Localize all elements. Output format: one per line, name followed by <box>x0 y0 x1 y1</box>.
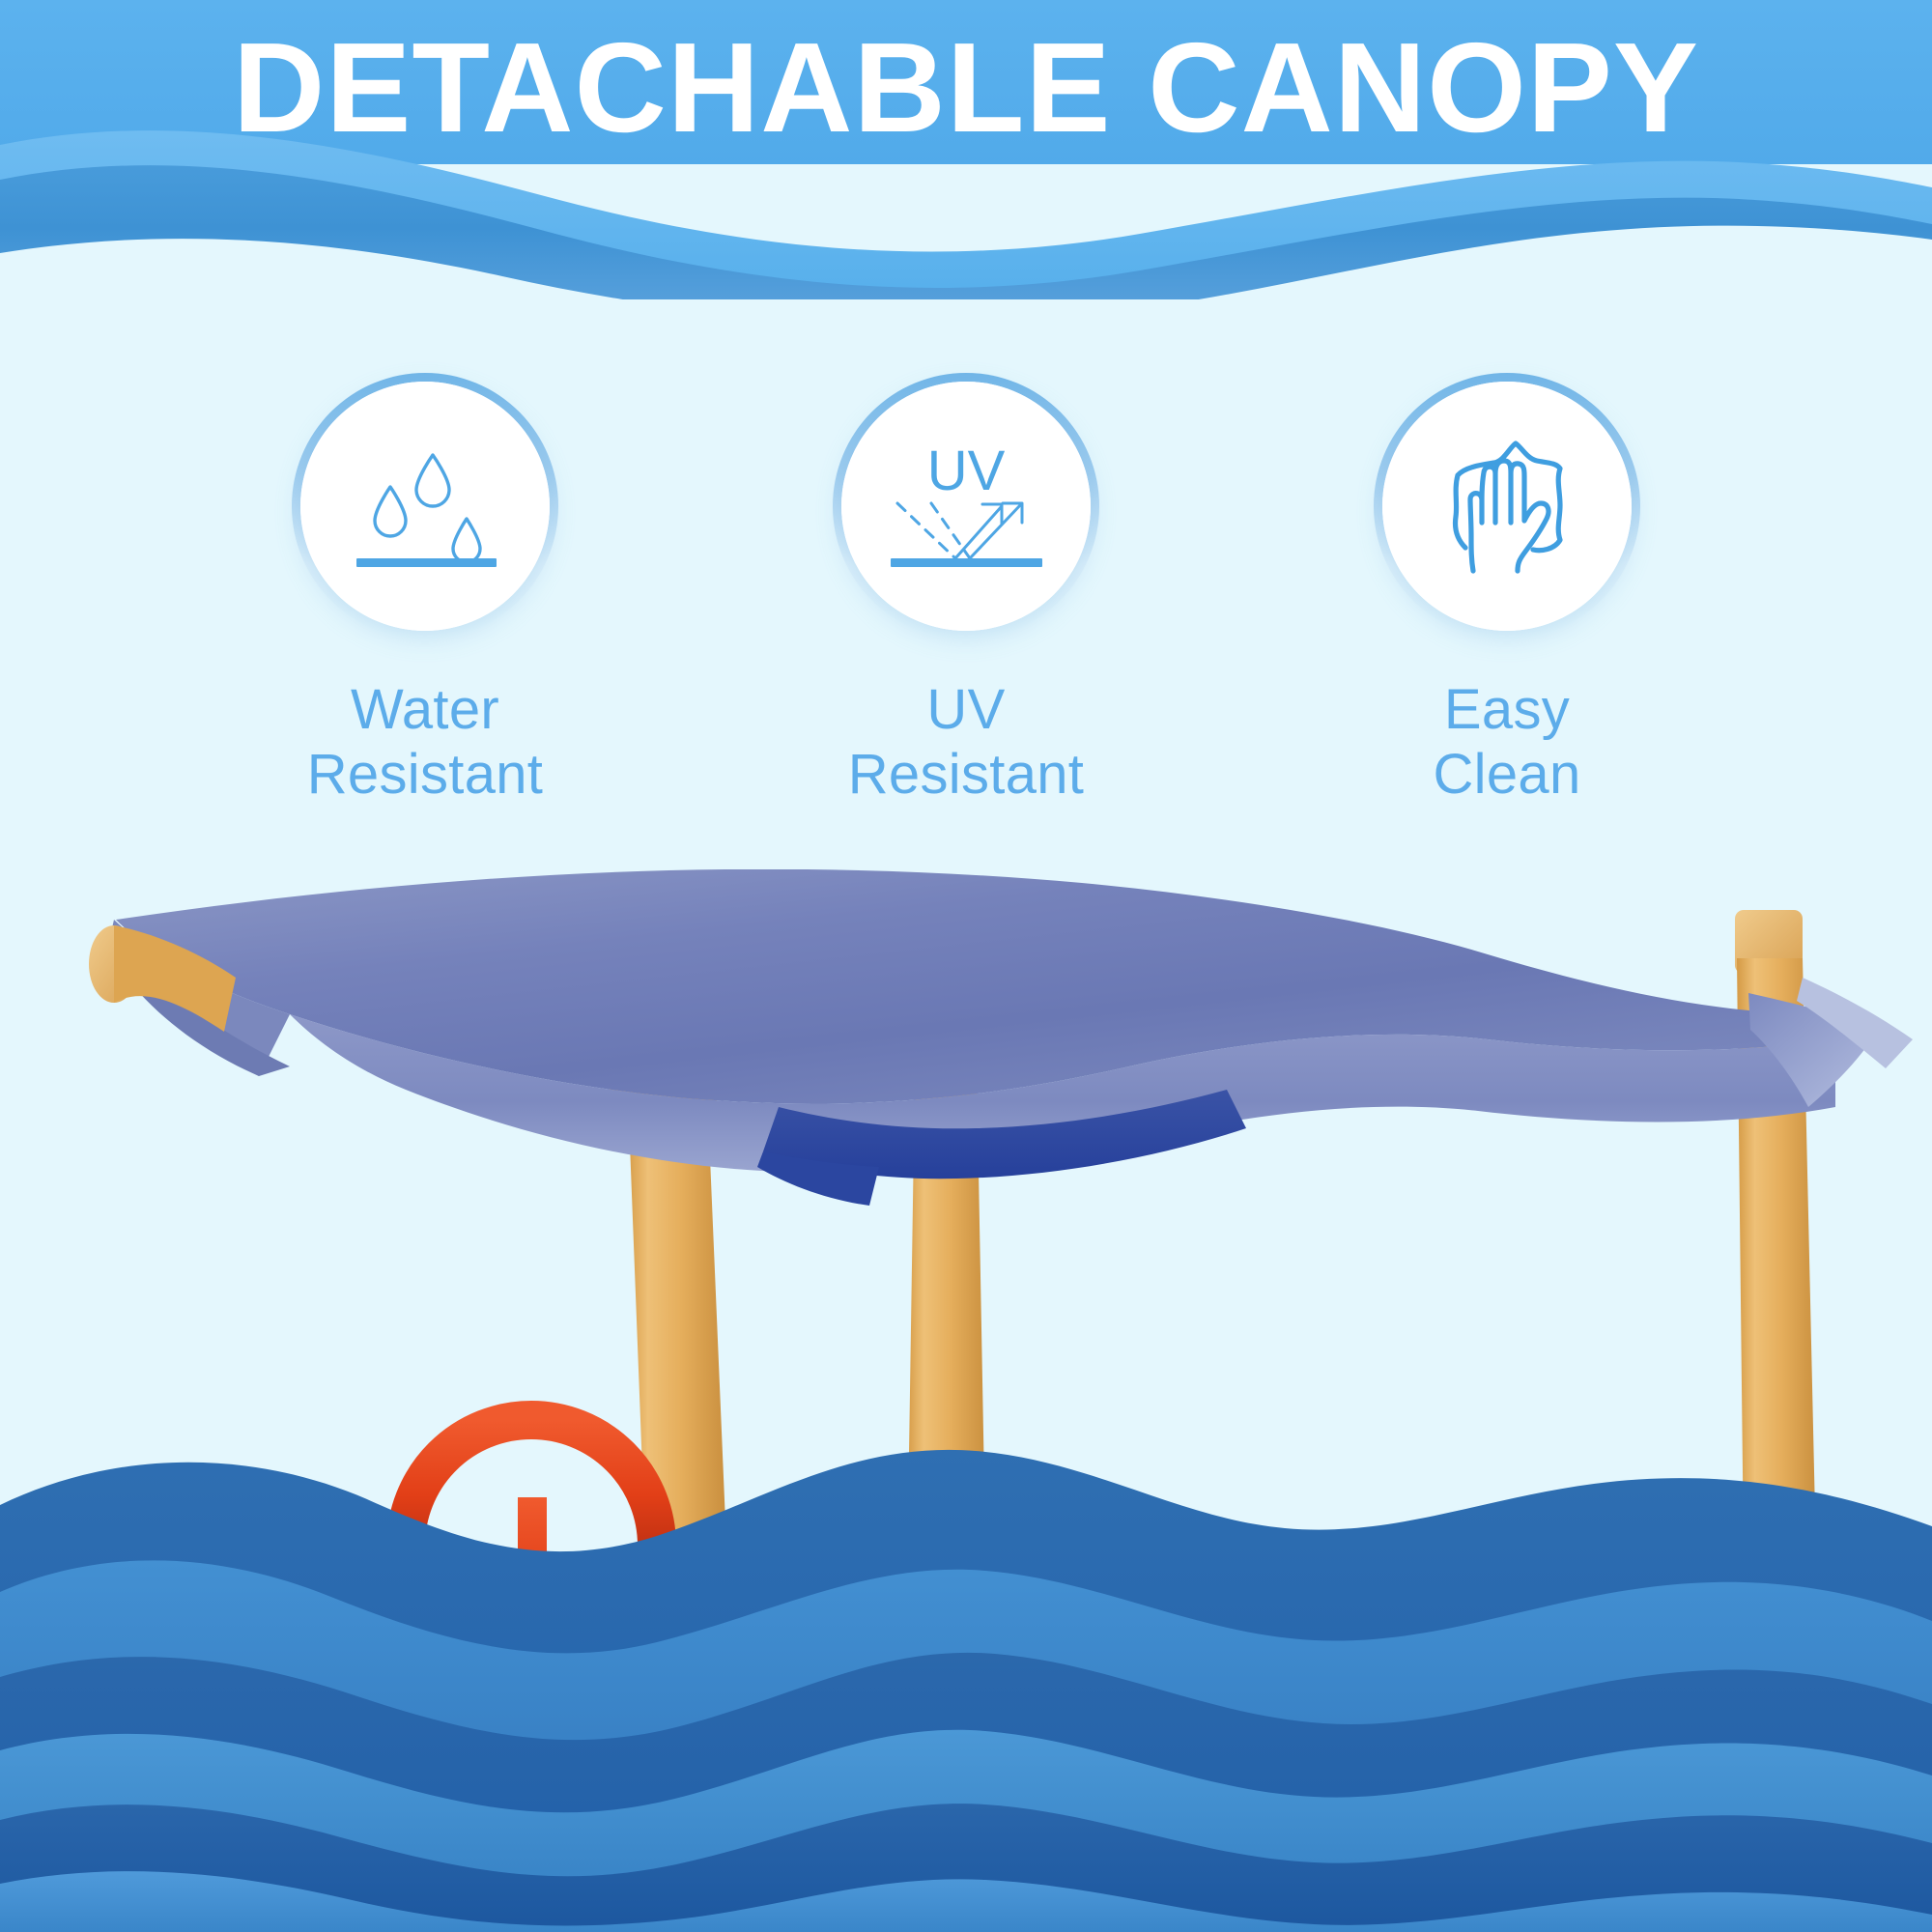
wave-layer-6 <box>0 1871 1932 1932</box>
surface-bar <box>356 558 497 567</box>
feature-label-line1: UV <box>926 678 1005 741</box>
feature-label: Water Resistant <box>307 677 543 808</box>
water-droplets-on-surface-icon <box>300 382 550 631</box>
product-photo <box>0 869 1932 1642</box>
feature-icon-badge <box>300 382 550 631</box>
uv-icon-text: UV <box>927 440 1006 502</box>
hand-wiping-cloth-icon <box>1382 382 1632 631</box>
surface-bar <box>891 558 1042 567</box>
header-banner: DETACHABLE CANOPY <box>0 0 1932 299</box>
wave-layer-5 <box>0 1804 1932 1932</box>
canopy-fabric <box>100 869 1913 1206</box>
feature-uv-resistant[interactable]: UV <box>696 382 1236 808</box>
wave-layer-3 <box>0 1653 1932 1932</box>
product-feature-banner: DETACHABLE CANOPY <box>0 0 1932 1932</box>
feature-water-resistant[interactable]: Water Resistant <box>155 382 696 808</box>
wave-layer-4 <box>0 1730 1932 1932</box>
feature-label-line1: Water <box>351 678 499 741</box>
feature-label: UV Resistant <box>848 677 1084 808</box>
feature-label-line2: Resistant <box>307 742 543 807</box>
feature-label-line2: Resistant <box>848 742 1084 807</box>
page-title: DETACHABLE CANOPY <box>0 21 1932 156</box>
red-steering-wheel <box>406 1420 657 1642</box>
feature-easy-clean[interactable]: Easy Clean <box>1236 382 1777 808</box>
feature-list: Water Resistant UV <box>0 382 1932 808</box>
feature-icon-badge <box>1382 382 1632 631</box>
feature-label-line1: Easy <box>1444 678 1570 741</box>
uv-rays-reflecting-icon: UV <box>841 382 1091 631</box>
feature-label: Easy Clean <box>1433 677 1580 808</box>
feature-icon-badge: UV <box>841 382 1091 631</box>
feature-label-line2: Clean <box>1433 742 1580 807</box>
